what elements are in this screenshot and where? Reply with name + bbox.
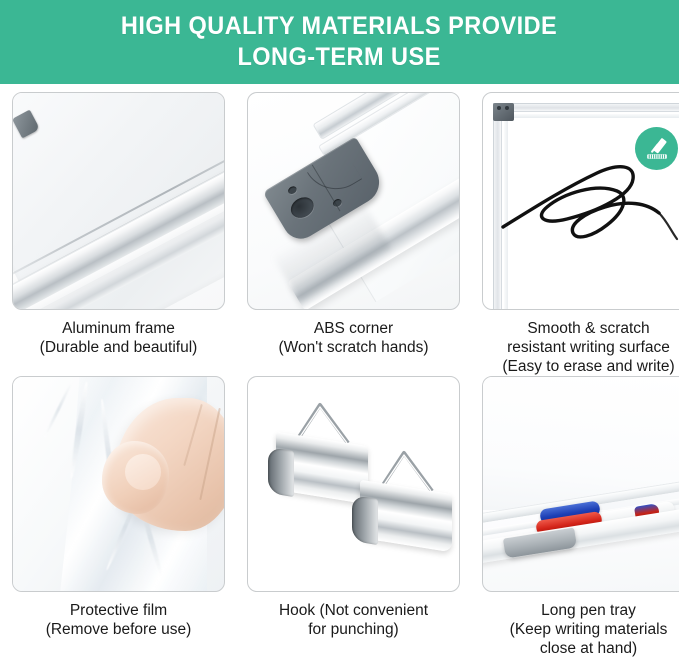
pen-tray-photo xyxy=(482,376,679,592)
abs-corner-photo xyxy=(247,92,460,310)
corner-screw-hole xyxy=(287,185,298,196)
caption-line: Long pen tray xyxy=(476,601,679,620)
caption-line: resistant writing surface xyxy=(476,338,679,357)
corner-arc-groove xyxy=(307,150,362,202)
feature-card-hooks: Hook (Not convenient for punching) xyxy=(241,376,466,658)
whiteboard-corner-bracket xyxy=(493,103,514,121)
protective-film-caption: Protective film (Remove before use) xyxy=(6,601,231,639)
caption-line: Aluminum frame xyxy=(6,319,231,338)
hooks-caption: Hook (Not convenient for punching) xyxy=(241,601,466,639)
thumbnail xyxy=(125,454,161,490)
marker-scribble xyxy=(501,155,679,265)
pen-tray-caption: Long pen tray (Keep writing materials cl… xyxy=(476,601,679,658)
aluminum-frame-photo xyxy=(12,92,225,310)
aluminum-frame-caption: Aluminum frame (Durable and beautiful) xyxy=(6,319,231,357)
protective-film-photo xyxy=(12,376,225,592)
banner-headline-line2: LONG-TERM USE xyxy=(238,42,441,73)
pen-tray-end-cap xyxy=(503,528,577,559)
caption-line: (Keep writing materials xyxy=(476,620,679,639)
feature-card-protective-film: Protective film (Remove before use) xyxy=(6,376,231,658)
hook-lip xyxy=(352,495,378,545)
whiteboard-frame-top-inner xyxy=(493,114,679,118)
feature-card-pen-tray: Long pen tray (Keep writing materials cl… xyxy=(476,376,679,658)
feature-card-abs-corner: ABS corner (Won't scratch hands) xyxy=(241,92,466,376)
writing-surface-photo xyxy=(482,92,679,310)
feature-card-aluminum-frame: Aluminum frame (Durable and beautiful) xyxy=(6,92,231,376)
caption-line: ABS corner xyxy=(241,319,466,338)
caption-line: (Easy to erase and write) xyxy=(476,357,679,376)
bracket-hole xyxy=(505,106,509,110)
hooks-photo xyxy=(247,376,460,592)
feature-grid: Aluminum frame (Durable and beautiful) A… xyxy=(0,84,679,658)
caption-line: for punching) xyxy=(241,620,466,639)
caption-line: (Durable and beautiful) xyxy=(6,338,231,357)
abs-corner-caption: ABS corner (Won't scratch hands) xyxy=(241,319,466,357)
caption-line: Hook (Not convenient xyxy=(241,601,466,620)
caption-line: Protective film xyxy=(6,601,231,620)
feature-card-writing-surface: Smooth & scratch resistant writing surfa… xyxy=(476,92,679,376)
caption-line: Smooth & scratch xyxy=(476,319,679,338)
banner-headline-line1: HIGH QUALITY MATERIALS PROVIDE xyxy=(121,11,557,42)
bracket-hole xyxy=(497,106,501,110)
corner-mounting-hole xyxy=(287,193,317,222)
caption-line: (Remove before use) xyxy=(6,620,231,639)
writing-surface-caption: Smooth & scratch resistant writing surfa… xyxy=(476,319,679,376)
caption-line: close at hand) xyxy=(476,639,679,658)
caption-line: (Won't scratch hands) xyxy=(241,338,466,357)
hook-lip xyxy=(268,447,294,497)
header-banner: HIGH QUALITY MATERIALS PROVIDE LONG-TERM… xyxy=(0,0,679,84)
whiteboard-frame-top xyxy=(493,103,679,112)
